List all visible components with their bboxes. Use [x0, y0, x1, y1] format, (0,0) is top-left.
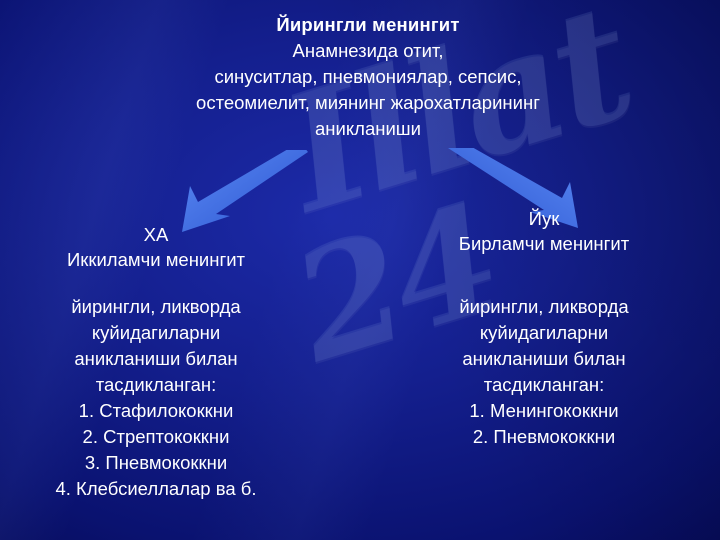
left-branch-intro-line-3: аникланиши билан	[12, 346, 300, 372]
right-branch-answer: Йук	[400, 206, 688, 231]
list-item: 2. Пневмококкни	[400, 424, 688, 450]
list-item: 4. Клебсиеллалар ва б.	[12, 476, 300, 502]
left-branch-intro-line-2: куйидагиларни	[12, 320, 300, 346]
left-branch-intro-line-4: тасдикланган:	[12, 372, 300, 398]
left-branch: ХА Иккиламчи менингит йирингли, ликворда…	[12, 222, 300, 502]
left-branch-list: 1. Стафилококкни 2. Стрептококкни 3. Пне…	[12, 398, 300, 502]
list-item: 2. Стрептококкни	[12, 424, 300, 450]
list-item: 3. Пневмококкни	[12, 450, 300, 476]
slide: Illat 24 Йирингли менингит Анамнезида от…	[0, 0, 720, 540]
right-branch-intro-line-2: куйидагиларни	[400, 320, 688, 346]
right-branch: Йук Бирламчи менингит йирингли, ликворда…	[400, 206, 688, 450]
list-item: 1. Стафилококкни	[12, 398, 300, 424]
left-branch-intro-line-1: йирингли, ликворда	[12, 294, 300, 320]
right-branch-intro-line-4: тасдикланган:	[400, 372, 688, 398]
right-branch-intro-line-1: йирингли, ликворда	[400, 294, 688, 320]
left-branch-heading: Иккиламчи менингит	[12, 247, 300, 272]
title-line-3: синуситлар, пневмониялар, сепсис,	[108, 64, 628, 90]
slide-title: Йирингли менингит	[108, 12, 628, 38]
right-branch-intro-line-3: аникланиши билан	[400, 346, 688, 372]
left-branch-body: йирингли, ликворда куйидагиларни аниклан…	[12, 294, 300, 502]
title-line-5: аникланиши	[108, 116, 628, 142]
left-branch-answer: ХА	[12, 222, 300, 247]
list-item: 1. Менингококкни	[400, 398, 688, 424]
title-block: Йирингли менингит Анамнезида отит, синус…	[108, 12, 628, 142]
right-branch-body: йирингли, ликворда куйидагиларни аниклан…	[400, 294, 688, 450]
title-line-4: остеомиелит, миянинг жарохатларининг	[108, 90, 628, 116]
right-branch-heading: Бирламчи менингит	[400, 231, 688, 256]
title-line-2: Анамнезида отит,	[108, 38, 628, 64]
right-branch-list: 1. Менингококкни 2. Пневмококкни	[400, 398, 688, 450]
